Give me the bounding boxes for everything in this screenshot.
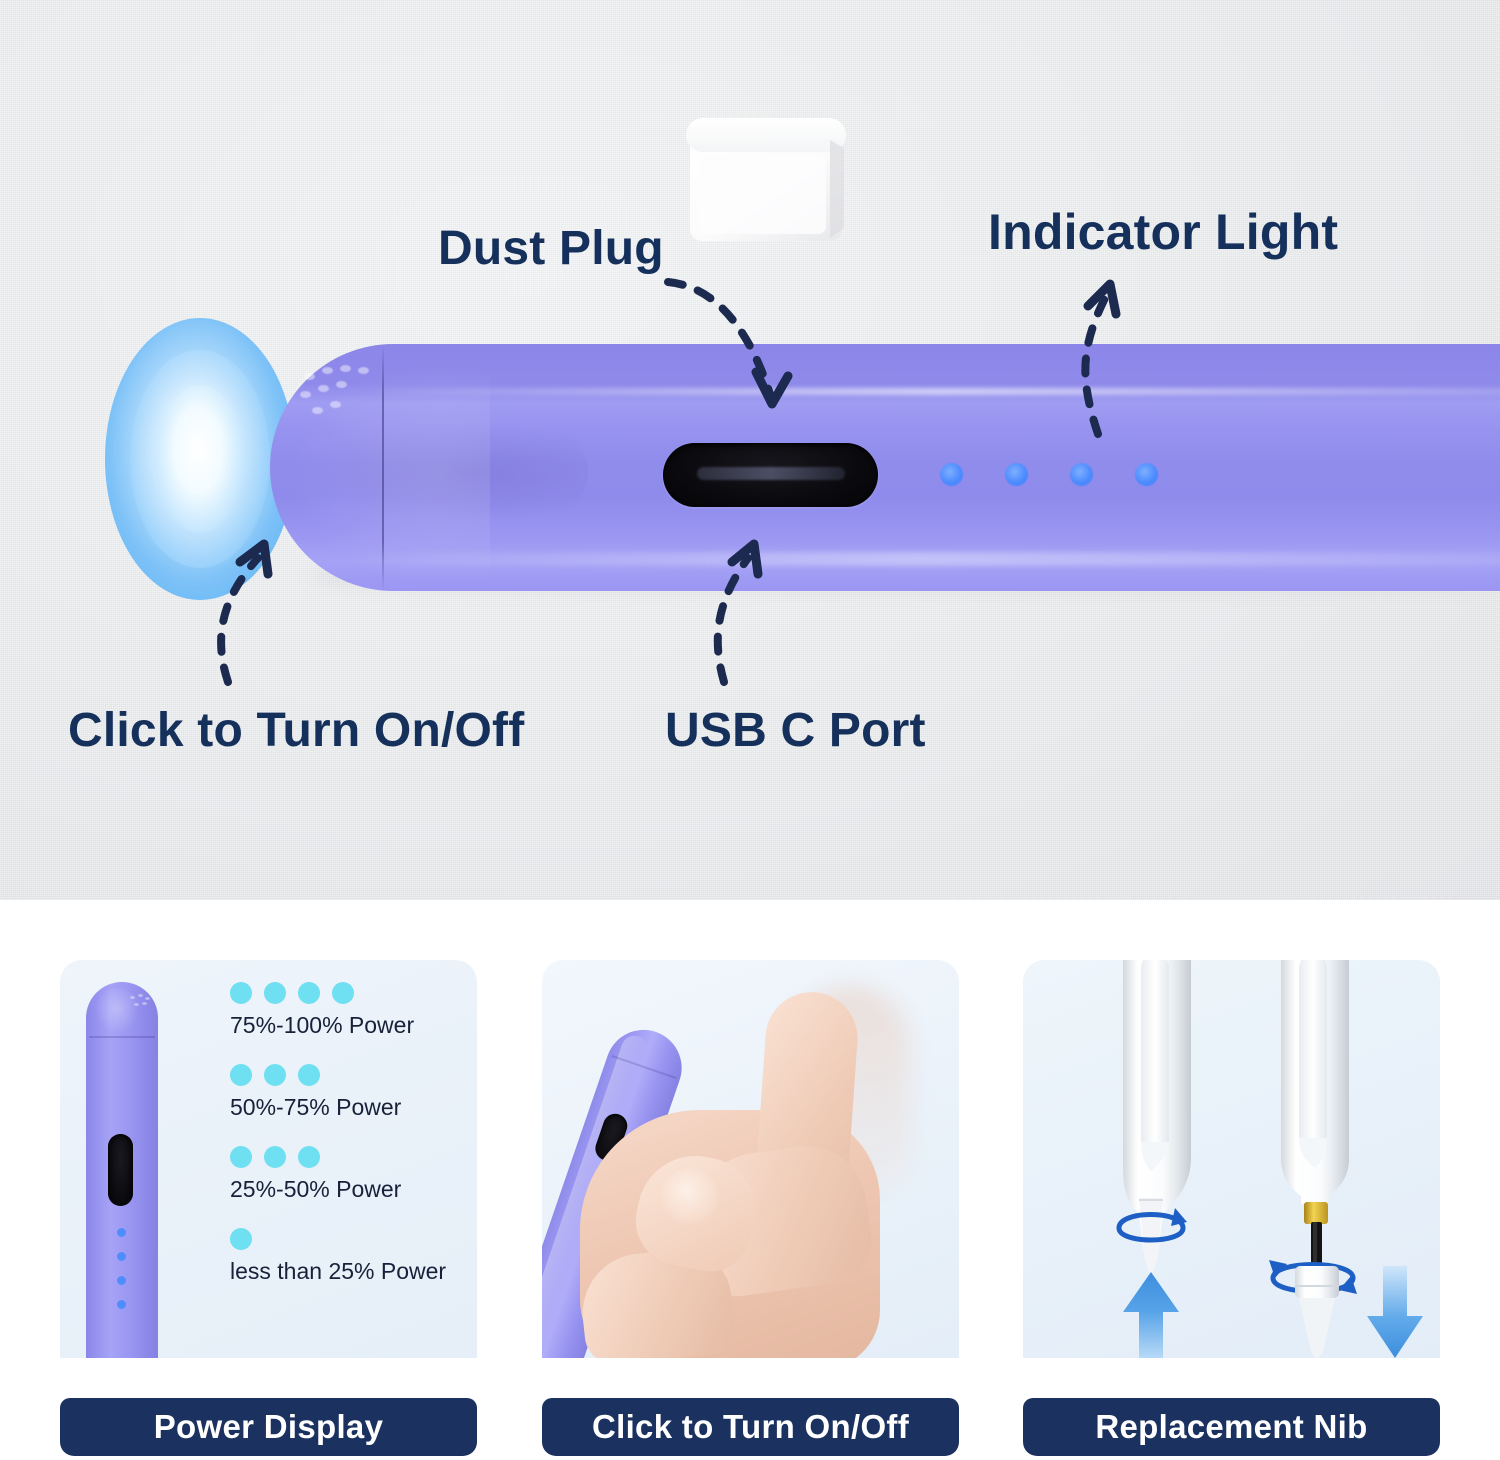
callout-indicator-light: Indicator Light xyxy=(988,203,1338,261)
indicator-led-1 xyxy=(940,463,963,486)
legend-row: 75%-100% Power xyxy=(230,982,470,1039)
stylus-cap-seam xyxy=(89,1036,155,1038)
legend-label: 25%-50% Power xyxy=(230,1176,470,1203)
stylus-body xyxy=(270,344,1500,591)
caption-replacement-nib: Replacement Nib xyxy=(1023,1398,1440,1456)
card-power-display: 75%-100% Power 50%-75% Power 25%-50% Pow… xyxy=(60,960,477,1358)
caption-power-display: Power Display xyxy=(60,1398,477,1456)
power-legend: 75%-100% Power 50%-75% Power 25%-50% Pow… xyxy=(230,982,470,1310)
indicator-led-4 xyxy=(1135,463,1158,486)
stylus-led-3 xyxy=(117,1276,126,1285)
indicator-led-3 xyxy=(1070,463,1093,486)
legend-dots-3b xyxy=(230,1146,470,1168)
usb-c-port xyxy=(663,443,878,507)
usb-c-port-arrow-icon xyxy=(690,530,800,690)
click-on-off-arrow-icon xyxy=(180,530,310,690)
dust-plug-graphic xyxy=(680,110,860,270)
power-display-stylus xyxy=(86,982,158,1358)
stylus-usb-c-port xyxy=(108,1134,133,1206)
legend-row: 50%-75% Power xyxy=(230,1064,470,1121)
legend-dots-4 xyxy=(230,982,470,1004)
stylus-led-1 xyxy=(117,1228,126,1237)
legend-label: 75%-100% Power xyxy=(230,1012,470,1039)
pen-cap-speckles xyxy=(300,365,390,425)
pen-gloss-top xyxy=(360,388,1500,395)
infographic-root: Dust Plug Indicator Light Click to Turn … xyxy=(0,0,1500,1460)
callout-click-on-off: Click to Turn On/Off xyxy=(68,703,524,758)
nib-replacement-diagram xyxy=(1023,960,1440,1358)
legend-row: 25%-50% Power xyxy=(230,1146,470,1203)
callout-usb-c-port: USB C Port xyxy=(665,703,926,758)
pen-gloss-bottom xyxy=(330,552,1500,566)
card-replacement-nib xyxy=(1023,960,1440,1358)
legend-row: less than 25% Power xyxy=(230,1228,470,1285)
stylus-led-2 xyxy=(117,1252,126,1261)
caption-click-to-turn-on-off: Click to Turn On/Off xyxy=(542,1398,959,1456)
legend-dots-3 xyxy=(230,1064,470,1086)
indicator-led-2 xyxy=(1005,463,1028,486)
callout-dust-plug: Dust Plug xyxy=(438,221,664,276)
hero-section: Dust Plug Indicator Light Click to Turn … xyxy=(0,0,1500,900)
legend-label: less than 25% Power xyxy=(230,1258,470,1285)
legend-label: 50%-75% Power xyxy=(230,1094,470,1121)
indicator-light-arrow-icon xyxy=(1050,268,1180,438)
dust-plug-arrow-icon xyxy=(660,272,820,422)
stylus-led-4 xyxy=(117,1300,126,1309)
legend-dots-1 xyxy=(230,1228,470,1250)
pen-cap-shade xyxy=(288,422,588,522)
card-click-to-turn-on-off xyxy=(542,960,959,1358)
stylus-cap-speckles xyxy=(130,994,152,1012)
power-ripple-inner-icon xyxy=(155,385,245,533)
feature-cards-section: 75%-100% Power 50%-75% Power 25%-50% Pow… xyxy=(0,900,1500,1460)
